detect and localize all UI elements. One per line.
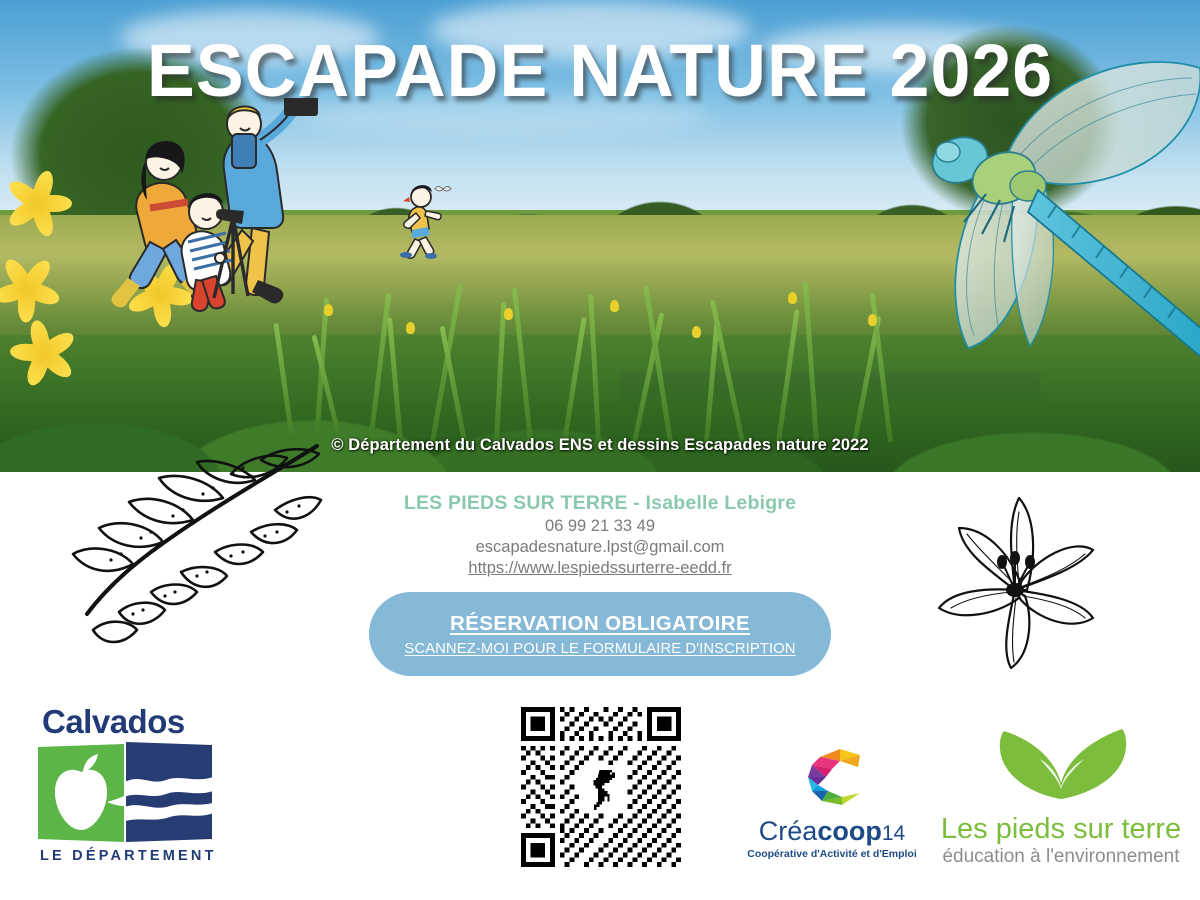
calvados-wordmark: Calvados xyxy=(22,705,222,738)
facetted-c-icon xyxy=(796,747,868,809)
waves-icon xyxy=(126,742,212,842)
contact-block: LES PIEDS SUR TERRE - Isabelle Lebigre 0… xyxy=(320,492,880,578)
qr-code-image xyxy=(521,707,681,867)
lespiedssurterre-wordmark: Les pieds sur terre xyxy=(930,814,1192,844)
yellow-flower-illustration xyxy=(24,330,70,376)
creacoop-wordmark: Créacoop14 xyxy=(742,818,922,845)
reed-cluster xyxy=(280,272,920,442)
lespiedssurterre-tagline: éducation à l'environnement xyxy=(930,846,1192,868)
creacoop-bold: coop xyxy=(817,816,882,846)
running-child-illustration xyxy=(395,185,455,260)
calvados-subtitle: LE DÉPARTEMENT xyxy=(22,848,222,864)
reservation-button[interactable]: RÉSERVATION OBLIGATOIRE SCANNEZ-MOI POUR… xyxy=(369,592,831,676)
apple-icon xyxy=(38,744,124,842)
family-with-telescope-illustration xyxy=(92,98,352,333)
creacoop-logo[interactable]: Créacoop14 Coopérative d'Activité et d'E… xyxy=(742,747,922,867)
calvados-logo[interactable]: Calvados LE DÉPARTEMENT xyxy=(22,705,222,870)
lespiedssurterre-logo[interactable]: Les pieds sur terre éducation à l'enviro… xyxy=(930,727,1192,868)
reservation-label: RÉSERVATION OBLIGATOIRE xyxy=(450,612,750,636)
creacoop-tagline: Coopérative d'Activité et d'Emploi xyxy=(742,848,922,860)
qr-code[interactable] xyxy=(521,707,681,867)
organisation-name: LES PIEDS SUR TERRE - Isabelle Lebigre xyxy=(320,492,880,515)
leafy-branch-line-art xyxy=(55,444,325,654)
page-title: ESCAPADE NATURE 2026 xyxy=(18,28,1182,113)
email-address[interactable]: escapadesnature.lpst@gmail.com xyxy=(320,538,880,557)
poster-root: © Département du Calvados ENS et dessins… xyxy=(0,0,1200,900)
two-leaves-icon xyxy=(966,727,1156,805)
dinosaur-icon xyxy=(579,765,627,813)
scan-instruction-label: SCANNEZ-MOI POUR LE FORMULAIRE D'INSCRIP… xyxy=(404,641,795,657)
creacoop-number: 14 xyxy=(882,822,905,845)
calvados-emblem xyxy=(22,742,222,842)
creacoop-prefix: Créa xyxy=(759,816,818,846)
website-link[interactable]: https://www.lespiedssurterre-eedd.fr xyxy=(320,559,880,578)
yellow-flower-illustration xyxy=(18,180,64,226)
waves-panel xyxy=(126,742,212,842)
flower-line-art xyxy=(915,472,1115,672)
yellow-flower-illustration xyxy=(0,258,60,318)
phone-number[interactable]: 06 99 21 33 49 xyxy=(320,517,880,536)
apple-panel xyxy=(38,744,124,842)
logo-row: Calvados LE DÉPARTEMENT xyxy=(0,695,1200,880)
